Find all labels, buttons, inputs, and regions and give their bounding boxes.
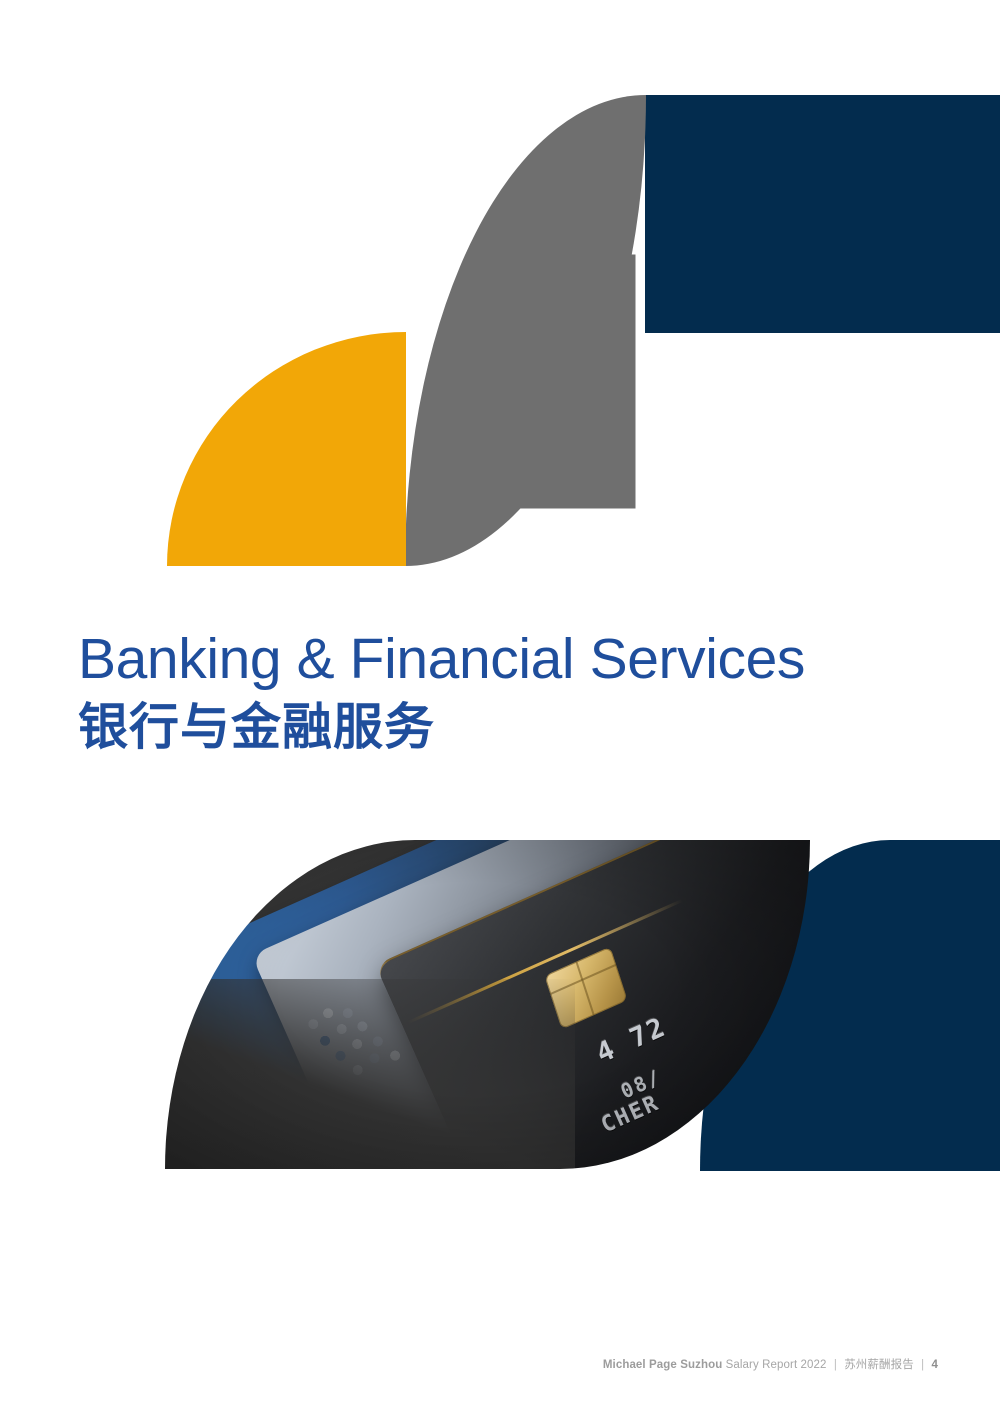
footer-report-title-chinese: 苏州薪酬报告 — [844, 1357, 914, 1371]
footer-separator-2: | — [917, 1359, 928, 1371]
photo-vignette — [165, 840, 810, 1169]
bottom-decoration-group: 4 72 08/ CHER — [0, 0, 1000, 1414]
footer-report-title: Salary Report 2022 — [726, 1359, 827, 1371]
hero-image-photo: 4 72 08/ CHER — [165, 840, 810, 1169]
hero-image: 4 72 08/ CHER — [165, 840, 810, 1169]
footer-separator-1: | — [830, 1359, 841, 1371]
page-root: Banking & Financial Services 银行与金融服务 4 7… — [0, 0, 1000, 1414]
footer-page-number: 4 — [932, 1359, 939, 1371]
footer-brand: Michael Page Suzhou — [603, 1359, 722, 1371]
page-footer: Michael Page Suzhou Salary Report 2022 |… — [603, 1356, 938, 1372]
